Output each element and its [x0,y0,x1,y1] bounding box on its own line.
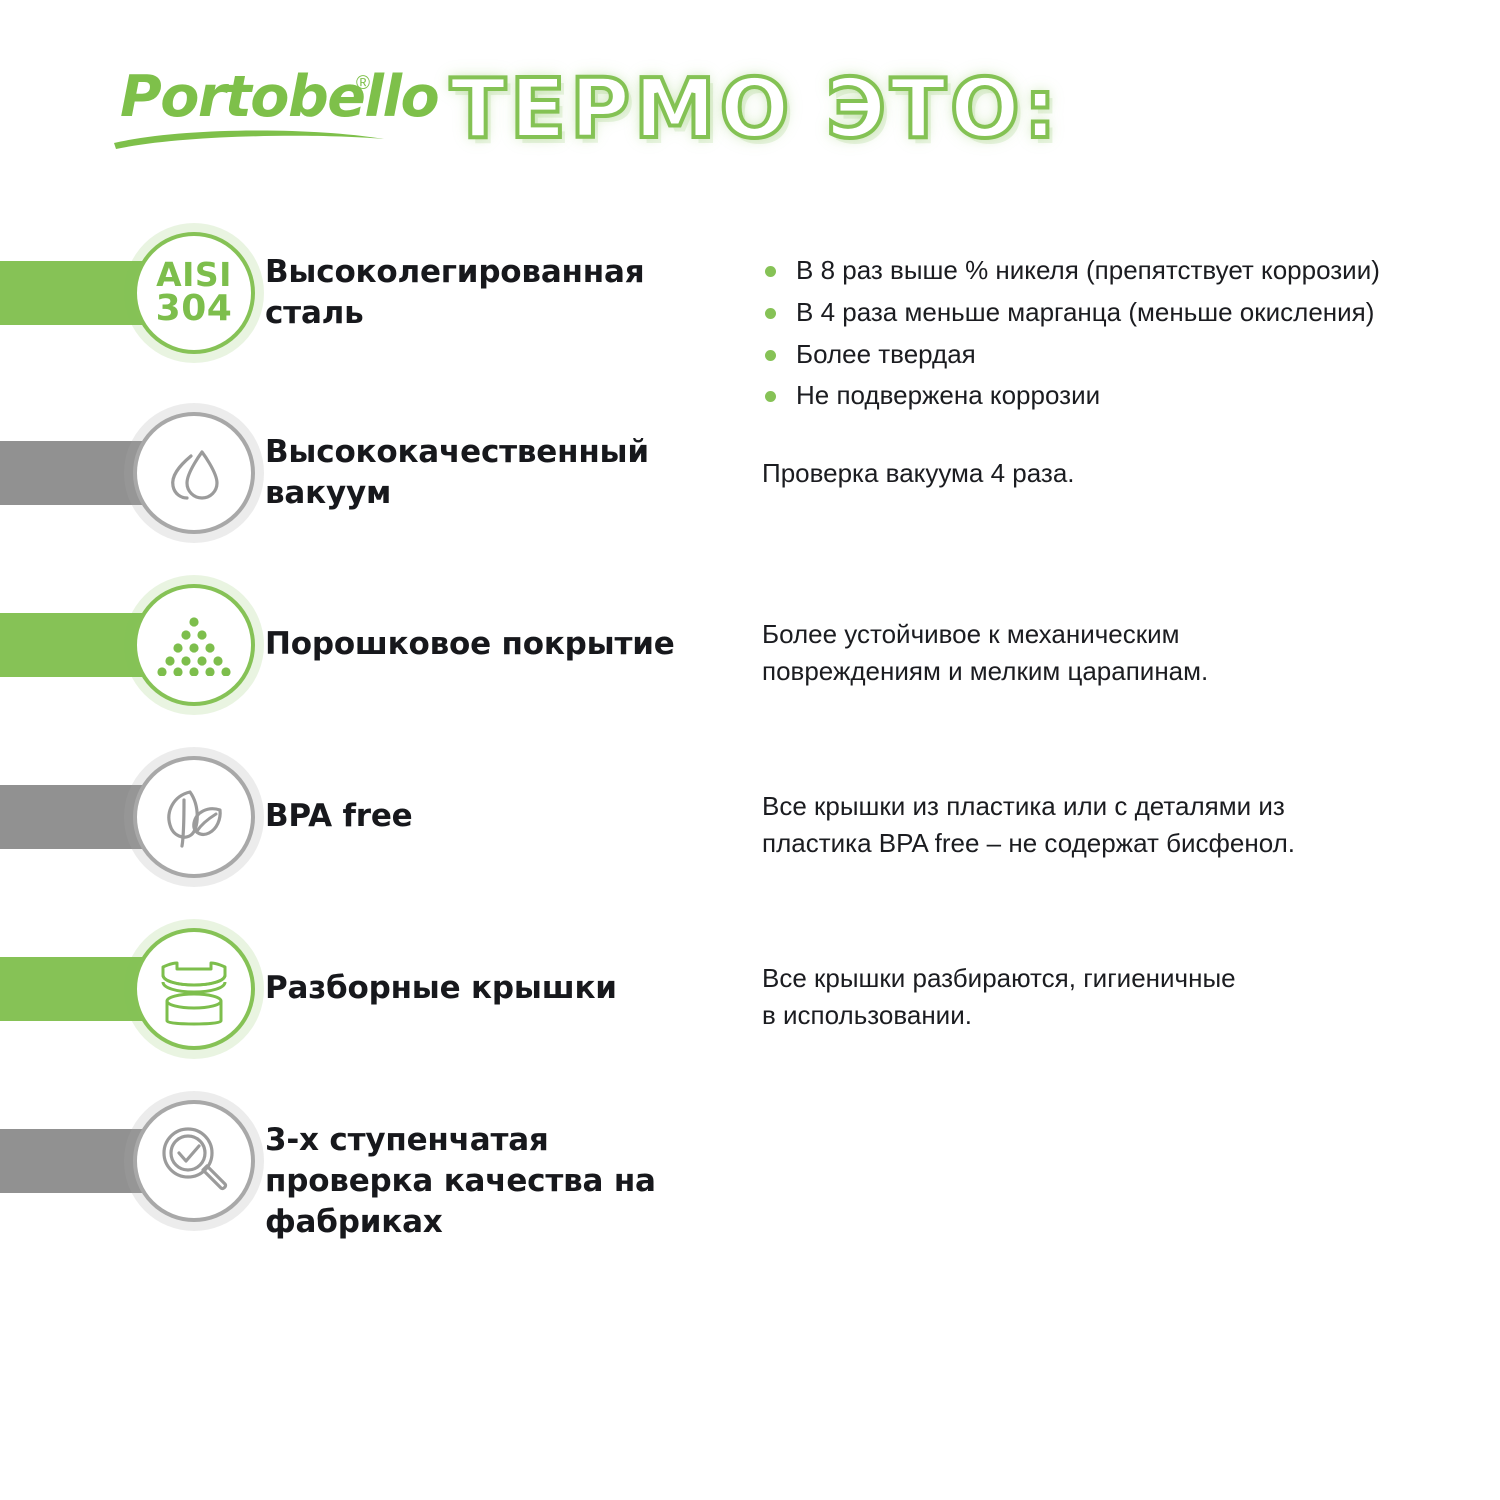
feature-heading: Высоколегированная сталь [265,252,715,334]
feature-heading: Высококачественный вакуум [265,432,715,514]
list-item: Не подвержена коррозии [762,379,1482,412]
feature-heading: BPA free [265,796,715,837]
feature-row-steel: AISI 304 Высоколегированная сталь В 8 ра… [0,232,1500,412]
detail-line: Более устойчивое к механическим [762,616,1482,653]
feature-row-vacuum: Высококачественный вакуум Проверка вакуу… [0,412,1500,584]
list-item: В 4 раза меньше марганца (меньше окислен… [762,296,1482,329]
aisi-label-line1: AISI [156,258,233,292]
aisi-label-line2: 304 [156,291,233,328]
feature-list: AISI 304 Высоколегированная сталь В 8 ра… [0,232,1500,1272]
list-item: В 8 раз выше % никеля (препятствует корр… [762,254,1482,287]
detail-line: Проверка вакуума 4 раза. [762,455,1482,492]
logo-swoosh-icon [112,125,392,151]
page-title: ТЕРМО ЭТО: [450,55,1061,165]
powder-dots-icon [133,584,255,706]
feature-heading: Разборные крышки [265,968,715,1009]
feature-row-quality-check: 3-х ступенчатая проверка качества на фаб… [0,1100,1500,1272]
feature-row-bpa-free: BPA free Все крышки из пластика или с де… [0,756,1500,928]
detail-line: Все крышки разбираются, гигиеничные [762,960,1482,997]
aisi-304-icon: AISI 304 [133,232,255,354]
water-drop-icon [133,412,255,534]
list-item: Более твердая [762,338,1482,371]
feature-row-powder-coating: Порошковое покрытие Более устойчивое к м… [0,584,1500,756]
detail-line: пластика BPA free – не содержат бисфенол… [762,825,1482,862]
feature-detail: Проверка вакуума 4 раза. [762,455,1482,492]
detail-line: в использовании. [762,997,1482,1034]
feature-row-detachable-lids: Разборные крышки Все крышки разбираются,… [0,928,1500,1100]
feature-detail: В 8 раз выше % никеля (препятствует корр… [762,254,1482,421]
magnifier-check-icon [133,1100,255,1222]
registered-trademark-icon: ® [356,73,370,95]
feature-heading: 3-х ступенчатая проверка качества на фаб… [265,1120,715,1244]
detail-line: Все крышки из пластика или с деталями из [762,788,1482,825]
bullet-list: В 8 раз выше % никеля (препятствует корр… [762,254,1482,412]
portobello-logo: Portobello ® [120,63,410,168]
leaves-icon [133,756,255,878]
page-title-text: ТЕРМО ЭТО: [450,69,1061,151]
feature-detail: Более устойчивое к механическим поврежде… [762,616,1482,690]
feature-heading: Порошковое покрытие [265,624,715,665]
detail-line: повреждениям и мелким царапинам. [762,653,1482,690]
infographic-page: Portobello ® ТЕРМО ЭТО: AISI 304 Высокол… [0,0,1500,1500]
feature-detail: Все крышки разбираются, гигиеничные в ис… [762,960,1482,1034]
detachable-lid-icon [133,928,255,1050]
feature-detail: Все крышки из пластика или с деталями из… [762,788,1482,862]
page-header: Portobello ® ТЕРМО ЭТО: [0,55,1500,175]
logo-wordmark: Portobello [120,69,438,126]
